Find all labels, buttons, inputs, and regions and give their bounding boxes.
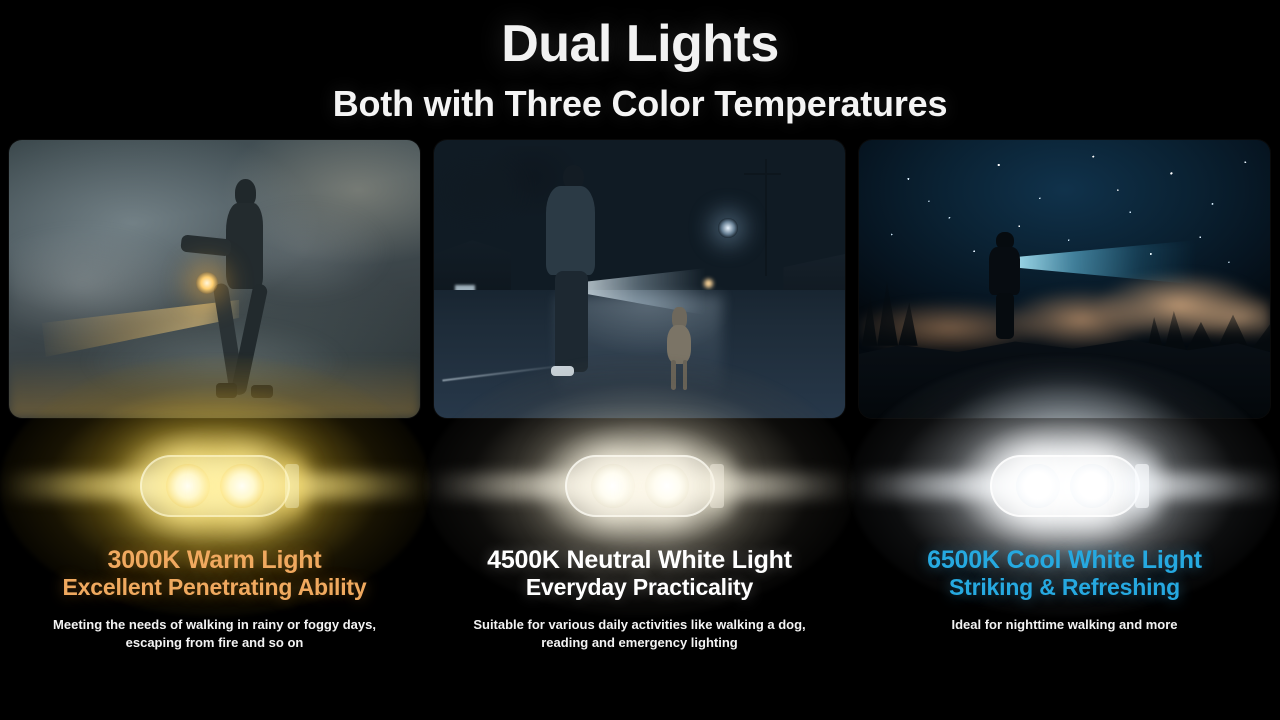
street-lamp-light: [718, 218, 738, 238]
color-temp-heading: 6500K Cool White Light: [859, 546, 1270, 574]
feature-column-neutral: 4500K Neutral White Light Everyday Pract…: [434, 140, 845, 660]
standing-person-silhouette: [986, 232, 1023, 338]
color-temp-subheading: Striking & Refreshing: [859, 574, 1270, 600]
color-temp-subheading: Excellent Penetrating Ability: [9, 574, 420, 600]
led-emitter-left: [166, 464, 210, 508]
color-temp-heading: 4500K Neutral White Light: [434, 546, 845, 574]
color-temp-description: Suitable for various daily activities li…: [434, 616, 845, 651]
color-temp-description: Meeting the needs of walking in rainy or…: [9, 616, 420, 651]
lamp-side-tab: [1135, 464, 1149, 508]
dog-walker-silhouette: [541, 165, 607, 376]
lamp-stage-neutral: [434, 432, 845, 540]
feature-columns: 3000K Warm Light Excellent Penetrating A…: [9, 140, 1271, 660]
led-emitter-right: [220, 464, 264, 508]
color-temp-heading: 3000K Warm Light: [9, 546, 420, 574]
lamp-side-tab: [710, 464, 724, 508]
page-header: Dual Lights Both with Three Color Temper…: [0, 0, 1280, 122]
dual-led-lamp-icon: [140, 455, 290, 517]
utility-pole-crossarm: [744, 173, 781, 175]
color-temp-description: Ideal for nighttime walking and more: [859, 616, 1270, 634]
led-emitter-left: [1016, 464, 1060, 508]
utility-pole: [765, 159, 767, 276]
caption-cool: 6500K Cool White Light Striking & Refres…: [859, 546, 1270, 634]
page-title: Dual Lights: [0, 0, 1280, 70]
caption-neutral: 4500K Neutral White Light Everyday Pract…: [434, 546, 845, 652]
led-emitter-right: [1070, 464, 1114, 508]
dual-led-lamp-icon: [990, 455, 1140, 517]
lamp-stage-warm: [9, 432, 420, 540]
lamp-side-tab: [285, 464, 299, 508]
color-temp-subheading: Everyday Practicality: [434, 574, 845, 600]
caption-warm: 3000K Warm Light Excellent Penetrating A…: [9, 546, 420, 652]
led-emitter-right: [645, 464, 689, 508]
flashlight-source-icon: [196, 272, 218, 294]
feature-column-warm: 3000K Warm Light Excellent Penetrating A…: [9, 140, 420, 660]
lamp-stage-cool: [859, 432, 1270, 540]
dual-led-lamp-icon: [565, 455, 715, 517]
feature-column-cool: 6500K Cool White Light Striking & Refres…: [859, 140, 1270, 660]
led-emitter-left: [591, 464, 635, 508]
page-subtitle: Both with Three Color Temperatures: [0, 70, 1280, 122]
